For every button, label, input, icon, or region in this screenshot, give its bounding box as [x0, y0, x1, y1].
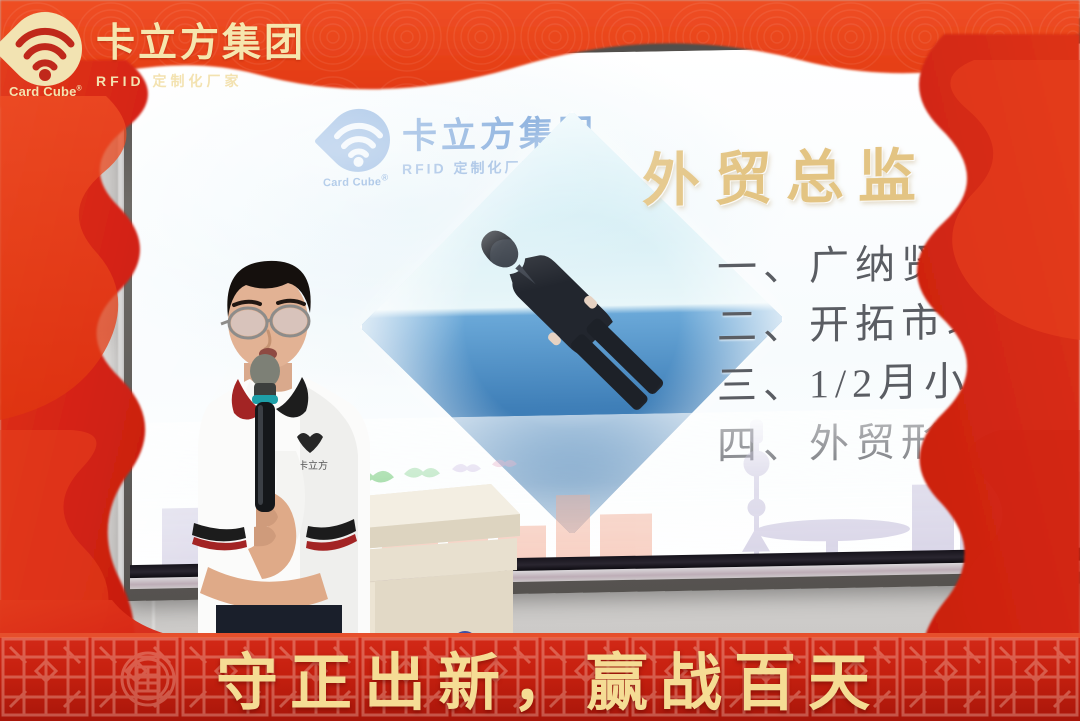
wifi-arcs-icon: [327, 115, 390, 168]
wall-texture: [10, 430, 90, 510]
agenda-item: 二、开拓市场: [717, 292, 1016, 357]
wifi-pin-logo-icon: Card Cube®: [327, 108, 390, 187]
slide-title: 外贸总监: [642, 128, 930, 217]
wall-texture: [30, 230, 120, 320]
slogan-text: 守正出新，赢战百天: [0, 633, 1080, 721]
svg-text:卡立方: 卡立方: [298, 459, 328, 472]
registered-mark: ®: [381, 172, 388, 182]
presenter-with-microphone: 卡立方: [150, 255, 410, 645]
slogan-banner: 守正出新，赢战百天: [0, 633, 1080, 721]
agenda-item: 一、广纳贤才: [717, 233, 1016, 298]
slide-logo-brand-en: Card Cube®: [323, 172, 388, 189]
venue-photograph: Card Cube® 卡立方集团 RFID 定制化厂家: [0, 0, 1080, 721]
agenda-item: 三、1/2月小结: [717, 351, 1016, 416]
event-photo-composite: Card Cube® 卡立方集团 RFID 定制化厂家: [0, 0, 1080, 721]
wall-panel-line: [0, 399, 122, 405]
